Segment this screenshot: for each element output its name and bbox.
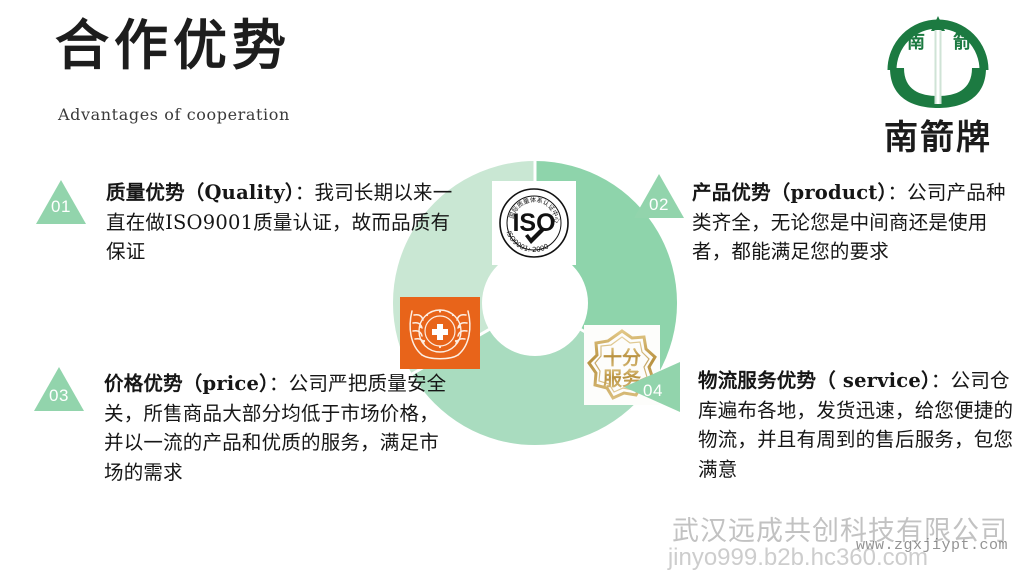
badge-number-03: 03	[32, 387, 86, 404]
badge-number-01: 01	[34, 198, 88, 215]
advantage-heading-04: 物流服务优势（ service）	[698, 369, 931, 392]
advantage-text-03: 价格优势（price）：公司严把质量安全关，所售商品大部分均低于市场价格，并以一…	[104, 369, 456, 488]
page-subtitle: Advantages of cooperation	[58, 105, 290, 124]
logo-char-right: 箭	[953, 31, 971, 53]
watermark-company: 武汉远成共创科技有限公司	[672, 509, 1008, 548]
iso-certification-badge: 国际质量体系认证中心 ISO9001: 2000 ISO	[492, 181, 576, 265]
logo-char-left: 南	[907, 31, 925, 53]
slide-canvas: 合作优势 Advantages of cooperation 南 箭 南箭牌	[0, 0, 1024, 576]
nanjian-emblem-icon: 南 箭	[876, 4, 1000, 116]
watermark-url-primary: www.zgxjiypt.com	[856, 537, 1008, 554]
advantage-heading-02: 产品优势（product）	[692, 181, 887, 204]
advantage-text-04: 物流服务优势（ service）：公司仓库遍布各地，发货迅速，给您便捷的物流，并…	[698, 366, 1022, 485]
watermark-url-secondary: jinyo999.b2b.hc360.com	[668, 544, 928, 572]
orange-certification-badge	[400, 297, 480, 369]
donut-hole	[482, 250, 588, 356]
badge-number-04: 04	[626, 382, 680, 399]
logo-wordmark: 南箭牌	[868, 110, 1008, 159]
iso-main-text: ISO	[512, 209, 555, 237]
advantage-heading-03: 价格优势（price）	[104, 372, 269, 395]
brand-logo: 南 箭 南箭牌	[868, 4, 1008, 162]
advantage-heading-01: 质量优势（Quality）	[106, 181, 295, 204]
badge-number-02: 02	[632, 196, 686, 213]
advantage-text-01: 质量优势（Quality）：我司长期以来一直在做ISO9001质量认证，故而品质…	[106, 178, 454, 267]
advantage-text-02: 产品优势（product）：公司产品种类齐全，无论您是中间商还是使用者，都能满足…	[692, 178, 1024, 267]
page-title: 合作优势	[55, 14, 291, 76]
